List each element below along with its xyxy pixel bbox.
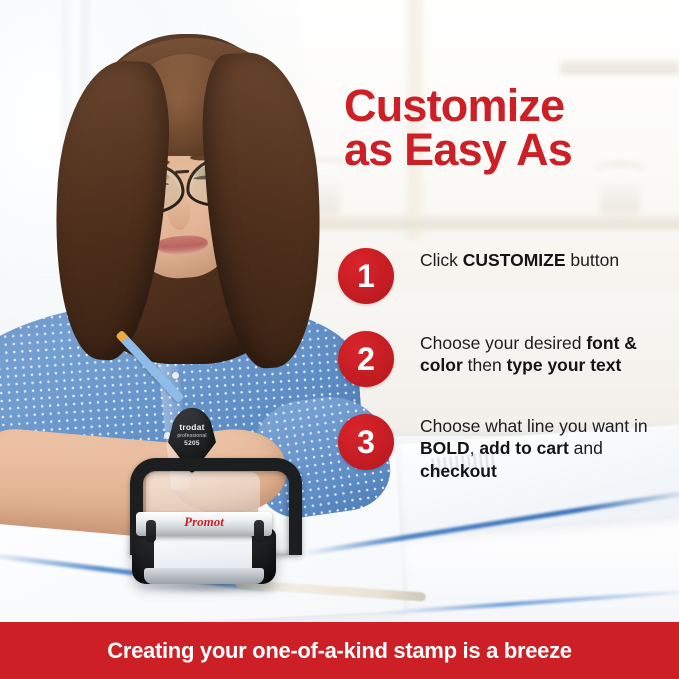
stamp-model-label: 5205 [168, 440, 216, 447]
step-badge-3: 3 [338, 414, 394, 470]
headline-line-2: as Easy As [344, 128, 674, 172]
step-badge-1: 1 [338, 248, 394, 304]
step-item-2: 2 Choose your desired font & color then … [336, 331, 679, 387]
content-column: Customize as Easy As 1 Click CUSTOMIZE b… [336, 0, 679, 622]
page-title: Customize as Easy As [344, 84, 674, 172]
step-badge-2: 2 [338, 331, 394, 387]
banner-text: Creating your one-of-a-kind stamp is a b… [107, 638, 572, 664]
step-item-1: 1 Click CUSTOMIZE button [336, 248, 679, 304]
stamp-lever-right [254, 520, 264, 542]
promo-image: trodat professional 5205 Promot Customiz… [0, 0, 679, 679]
bottom-banner: Creating your one-of-a-kind stamp is a b… [0, 622, 679, 679]
step-text-3: Choose what line you want in BOLD, add t… [420, 415, 652, 482]
stamp-brand-label: trodat [168, 422, 216, 432]
step-text-1: Click CUSTOMIZE button [420, 249, 619, 271]
steps-list: 1 Click CUSTOMIZE button 2 Choose your d… [336, 248, 679, 509]
step-text-2: Choose your desired font & color then ty… [420, 332, 652, 377]
stamp-base [144, 568, 264, 584]
shirt-button-1 [172, 372, 179, 379]
stamp-line-label: professional [168, 433, 216, 439]
step-item-3: 3 Choose what line you want in BOLD, add… [336, 414, 679, 482]
stamp-product: trodat professional 5205 Promot [126, 408, 286, 588]
stamp-lever-left [146, 520, 156, 542]
stamp-plate-logo: Promot [136, 514, 272, 530]
